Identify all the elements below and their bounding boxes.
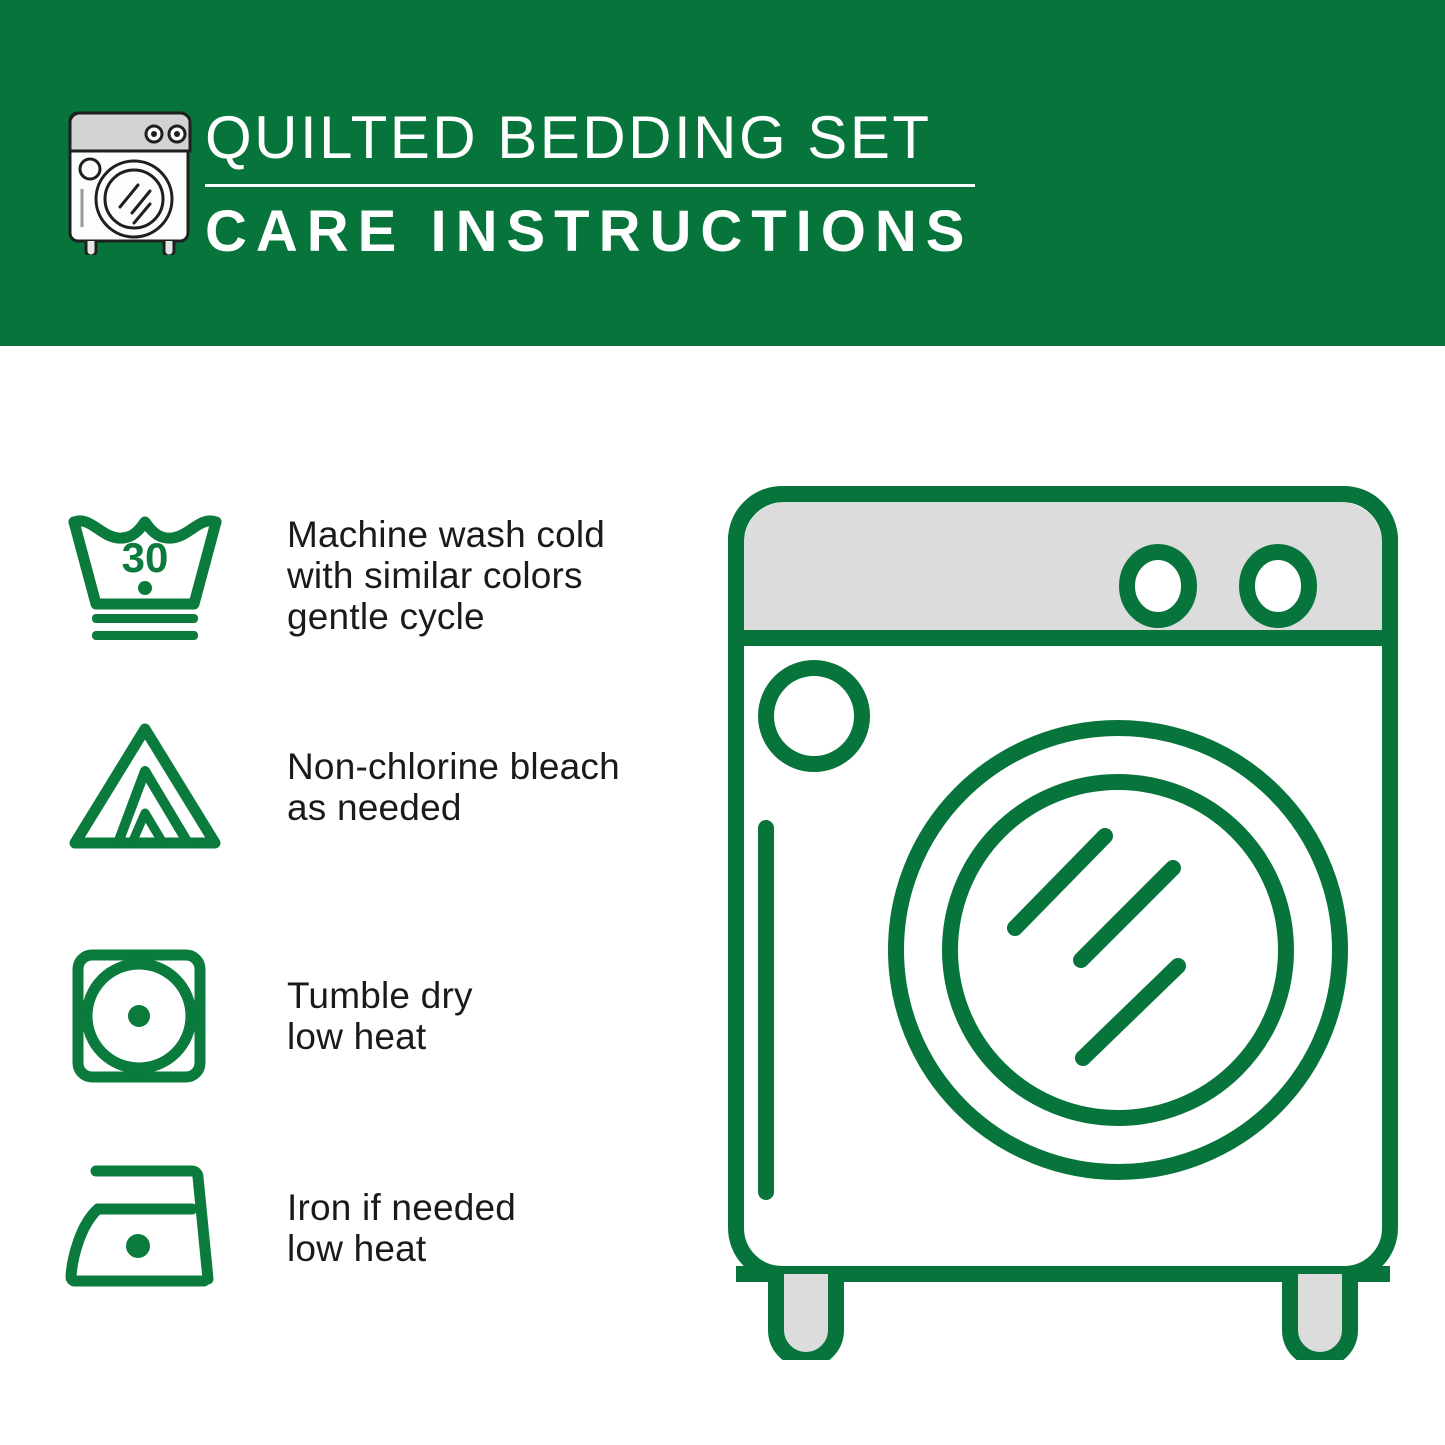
care-label-tumble-dry: Tumble dry low heat — [245, 975, 473, 1057]
care-label-bleach: Non-chlorine bleach as needed — [245, 746, 620, 828]
wash-tub-30-gentle-icon: 30 — [60, 500, 245, 650]
care-row-iron: Iron if needed low heat — [60, 1150, 700, 1305]
title-divider — [205, 184, 975, 187]
page-subtitle: CARE INSTRUCTIONS — [205, 197, 995, 267]
page-title: QUILTED BEDDING SET — [205, 100, 995, 176]
care-label-line: low heat — [287, 1016, 473, 1057]
washing-machine-icon — [62, 103, 198, 255]
header-title-group: QUILTED BEDDING SET CARE INSTRUCTIONS — [205, 100, 995, 267]
care-label-machine-wash: Machine wash cold with similar colors ge… — [245, 514, 605, 637]
wash-temperature-value: 30 — [122, 534, 169, 581]
non-chlorine-bleach-triangle-icon — [60, 715, 245, 860]
care-label-line: Machine wash cold — [287, 514, 605, 555]
care-label-line: Tumble dry — [287, 975, 473, 1016]
care-row-tumble-dry: Tumble dry low heat — [60, 938, 700, 1093]
care-label-line: with similar colors — [287, 555, 605, 596]
care-row-machine-wash: 30 Machine wash cold with similar colors… — [60, 490, 700, 660]
header-band: QUILTED BEDDING SET CARE INSTRUCTIONS — [0, 0, 1445, 346]
care-label-line: as needed — [287, 787, 620, 828]
care-label-iron: Iron if needed low heat — [245, 1187, 516, 1269]
tumble-dry-low-icon — [60, 941, 245, 1091]
care-label-line: Non-chlorine bleach — [287, 746, 620, 787]
iron-low-heat-icon — [60, 1153, 245, 1303]
care-instructions-infographic: QUILTED BEDDING SET CARE INSTRUCTIONS 30… — [0, 0, 1445, 1445]
care-label-line: gentle cycle — [287, 596, 605, 637]
care-label-line: low heat — [287, 1228, 516, 1269]
washing-machine-illustration — [718, 480, 1408, 1360]
care-row-bleach: Non-chlorine bleach as needed — [60, 712, 700, 862]
care-label-line: Iron if needed — [287, 1187, 516, 1228]
